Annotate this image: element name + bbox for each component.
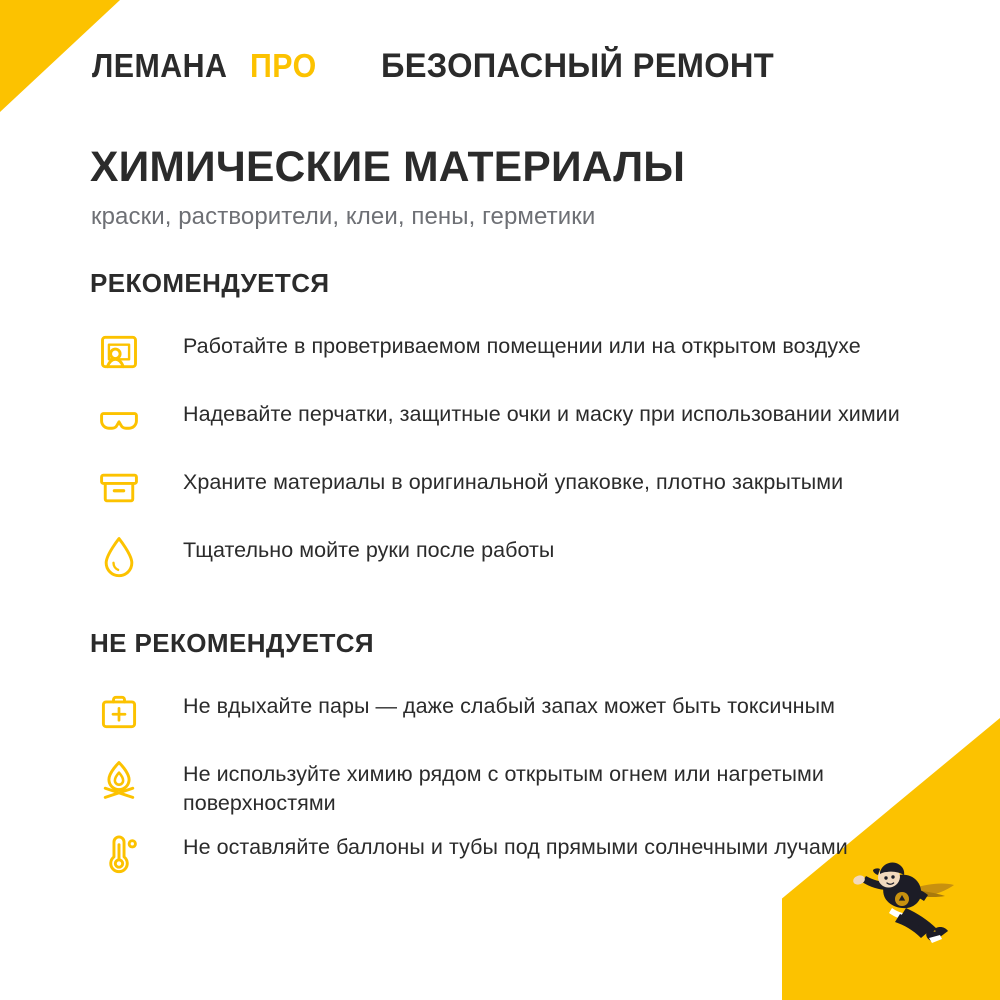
header-title: БЕЗОПАСНЫЙ РЕМОНТ (381, 47, 774, 86)
tip-list-not-recommended: Не вдыхайте пары — даже слабый запах мож… (90, 687, 910, 886)
lemana-pro-logo: ЛЕМАНА ПРО (92, 47, 323, 85)
logo-main-text: ЛЕМАНА (92, 47, 227, 85)
tip-text: Не оставляйте баллоны и тубы под прямыми… (148, 828, 910, 862)
list-item: Работайте в проветриваемом помещении или… (90, 327, 910, 385)
tip-text: Храните материалы в оригинальной упаковк… (148, 463, 910, 497)
list-item: Не используйте химию рядом с открытым ог… (90, 755, 910, 818)
page-subtitle: краски, растворители, клеи, пены, гермет… (91, 203, 595, 231)
list-item: Храните материалы в оригинальной упаковк… (90, 463, 910, 521)
storage-box-icon (90, 459, 148, 517)
ventilated-room-icon (90, 323, 148, 381)
campfire-flame-icon (90, 751, 148, 809)
tip-text: Не используйте химию рядом с открытым ог… (148, 755, 910, 818)
tip-text: Надевайте перчатки, защитные очки и маск… (148, 395, 910, 429)
thermometer-sun-icon (90, 824, 148, 882)
list-item: Тщательно мойте руки после работы (90, 531, 910, 589)
list-item: Не вдыхайте пары — даже слабый запах мож… (90, 687, 910, 745)
flying-superhero-mascot (828, 844, 978, 952)
section-heading-not-recommended: НЕ РЕКОМЕНДУЕТСЯ (90, 628, 910, 659)
tip-text: Тщательно мойте руки после работы (148, 531, 910, 565)
section-heading-recommended: РЕКОМЕНДУЕТСЯ (90, 268, 910, 299)
tip-list-recommended: Работайте в проветриваемом помещении или… (90, 327, 910, 589)
section-not-recommended: НЕ РЕКОМЕНДУЕТСЯ Не вдыхайте пары — даже… (90, 628, 910, 896)
header-bar: ЛЕМАНА ПРО БЕЗОПАСНЫЙ РЕМОНТ (92, 40, 960, 92)
tip-text: Работайте в проветриваемом помещении или… (148, 327, 910, 361)
logo-accent-text: ПРО (250, 47, 317, 85)
safety-goggles-icon (90, 391, 148, 449)
first-aid-kit-icon (90, 683, 148, 741)
tip-text: Не вдыхайте пары — даже слабый запах мож… (148, 687, 910, 721)
list-item: Надевайте перчатки, защитные очки и маск… (90, 395, 910, 453)
water-drop-icon (90, 527, 148, 585)
section-recommended: РЕКОМЕНДУЕТСЯ Работайте в проветриваемом… (90, 268, 910, 599)
list-item: Не оставляйте баллоны и тубы под прямыми… (90, 828, 910, 886)
page-title: ХИМИЧЕСКИЕ МАТЕРИАЛЫ (90, 145, 685, 190)
poster-canvas: ЛЕМАНА ПРО БЕЗОПАСНЫЙ РЕМОНТ ХИМИЧЕСКИЕ … (0, 0, 1000, 1000)
